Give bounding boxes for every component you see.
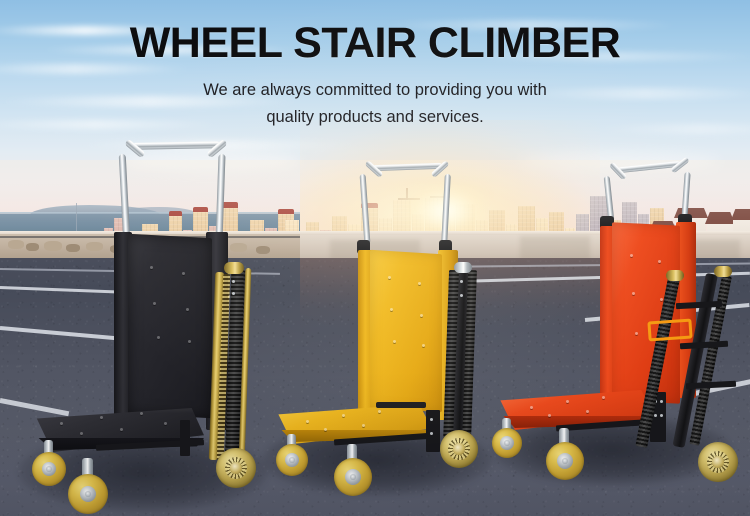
handle-bar: [372, 163, 442, 171]
wheel-center-cap: [453, 443, 465, 455]
handle-post-left: [119, 154, 131, 242]
handle-post-right: [681, 172, 690, 220]
frame-bracket: [180, 420, 190, 456]
banner-subtitle: We are always committed to providing you…: [0, 77, 750, 130]
handle-bar: [132, 141, 220, 150]
banner-headings: WHEEL STAIR CLIMBER We are always commit…: [0, 0, 750, 130]
promo-banner: WHEEL STAIR CLIMBER We are always commit…: [0, 0, 750, 516]
subtitle-line-2: quality products and services.: [0, 104, 750, 131]
product-cart-black[interactable]: [20, 140, 280, 516]
cart-backplate: [128, 234, 212, 418]
subtitle-line-1: We are always committed to providing you…: [0, 77, 750, 104]
product-cart-yellow[interactable]: [262, 152, 512, 510]
handle-post-right: [441, 174, 451, 244]
orange-grab-handle[interactable]: [647, 318, 692, 341]
handle-corner: [670, 156, 689, 173]
plate-clip: [376, 402, 426, 408]
track-rung: [686, 381, 736, 390]
wheel-center-cap: [712, 456, 724, 468]
track-top-roller-right: [714, 266, 732, 277]
wheel-center-cap: [230, 462, 242, 474]
track-top-roller-left: [666, 270, 684, 281]
handle-post-right: [215, 154, 225, 242]
product-cart-red[interactable]: [490, 150, 750, 490]
page-title: WHEEL STAIR CLIMBER: [0, 22, 750, 65]
cart-backplate: [370, 250, 442, 412]
frame-bracket: [426, 410, 440, 452]
handle-post-left: [360, 174, 371, 244]
track-rung: [680, 341, 728, 350]
track-top-roller: [454, 262, 472, 273]
track-top-roller: [224, 262, 244, 274]
